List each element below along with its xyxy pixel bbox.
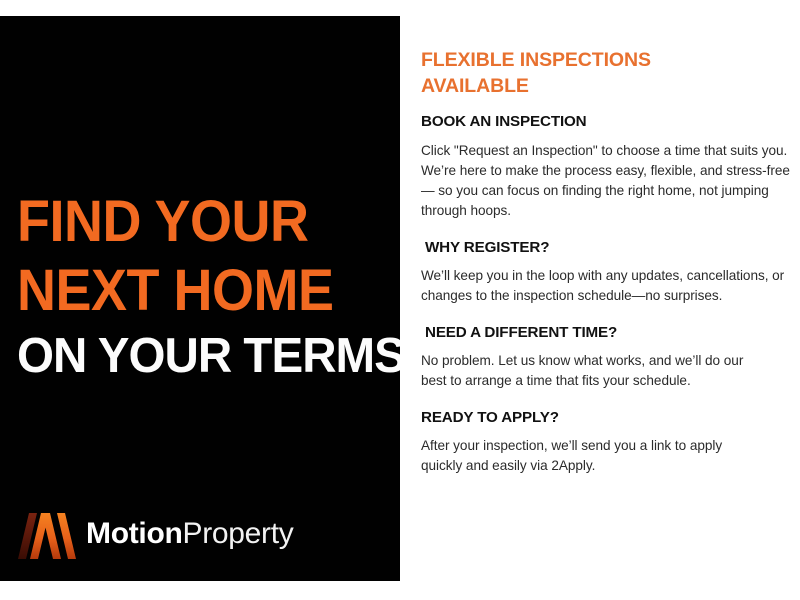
logo-wordmark: MotionProperty (86, 519, 293, 552)
section-heading: READY TO APPLY? (421, 409, 790, 427)
page-title: FLEXIBLE INSPECTIONS AVAILABLE (421, 48, 721, 99)
section-heading: BOOK AN INSPECTION (421, 113, 790, 131)
section-book-an-inspection: BOOK AN INSPECTION Click "Request an Ins… (421, 113, 790, 220)
section-body: No problem. Let us know what works, and … (421, 351, 751, 391)
section-why-register: WHY REGISTER? We’ll keep you in the loop… (421, 239, 790, 306)
section-body: Click "Request an Inspection" to choose … (421, 141, 793, 221)
logo-word-property: Property (183, 517, 294, 550)
section-heading: WHY REGISTER? (421, 239, 790, 257)
hero-line-3: ON YOUR TERMS (17, 332, 389, 380)
section-need-a-different-time: NEED A DIFFERENT TIME? No problem. Let u… (421, 324, 790, 391)
content-panel: FLEXIBLE INSPECTIONS AVAILABLE BOOK AN I… (400, 0, 800, 600)
motion-property-logo: MotionProperty (18, 511, 293, 559)
hero-headline: FIND YOUR NEXT HOME ON YOUR TERMS (17, 194, 400, 380)
motion-m-chevron-icon (18, 511, 76, 559)
section-body: We’ll keep you in the loop with any upda… (421, 266, 793, 306)
section-body: After your inspection, we’ll send you a … (421, 436, 751, 476)
section-heading: NEED A DIFFERENT TIME? (421, 324, 790, 342)
promo-page: FIND YOUR NEXT HOME ON YOUR TERMS (0, 0, 800, 600)
hero-panel: FIND YOUR NEXT HOME ON YOUR TERMS (0, 16, 400, 581)
section-ready-to-apply: READY TO APPLY? After your inspection, w… (421, 409, 790, 476)
hero-line-1: FIND YOUR (17, 194, 373, 251)
logo-word-motion: Motion (86, 517, 183, 550)
hero-line-2: NEXT HOME (17, 263, 373, 320)
